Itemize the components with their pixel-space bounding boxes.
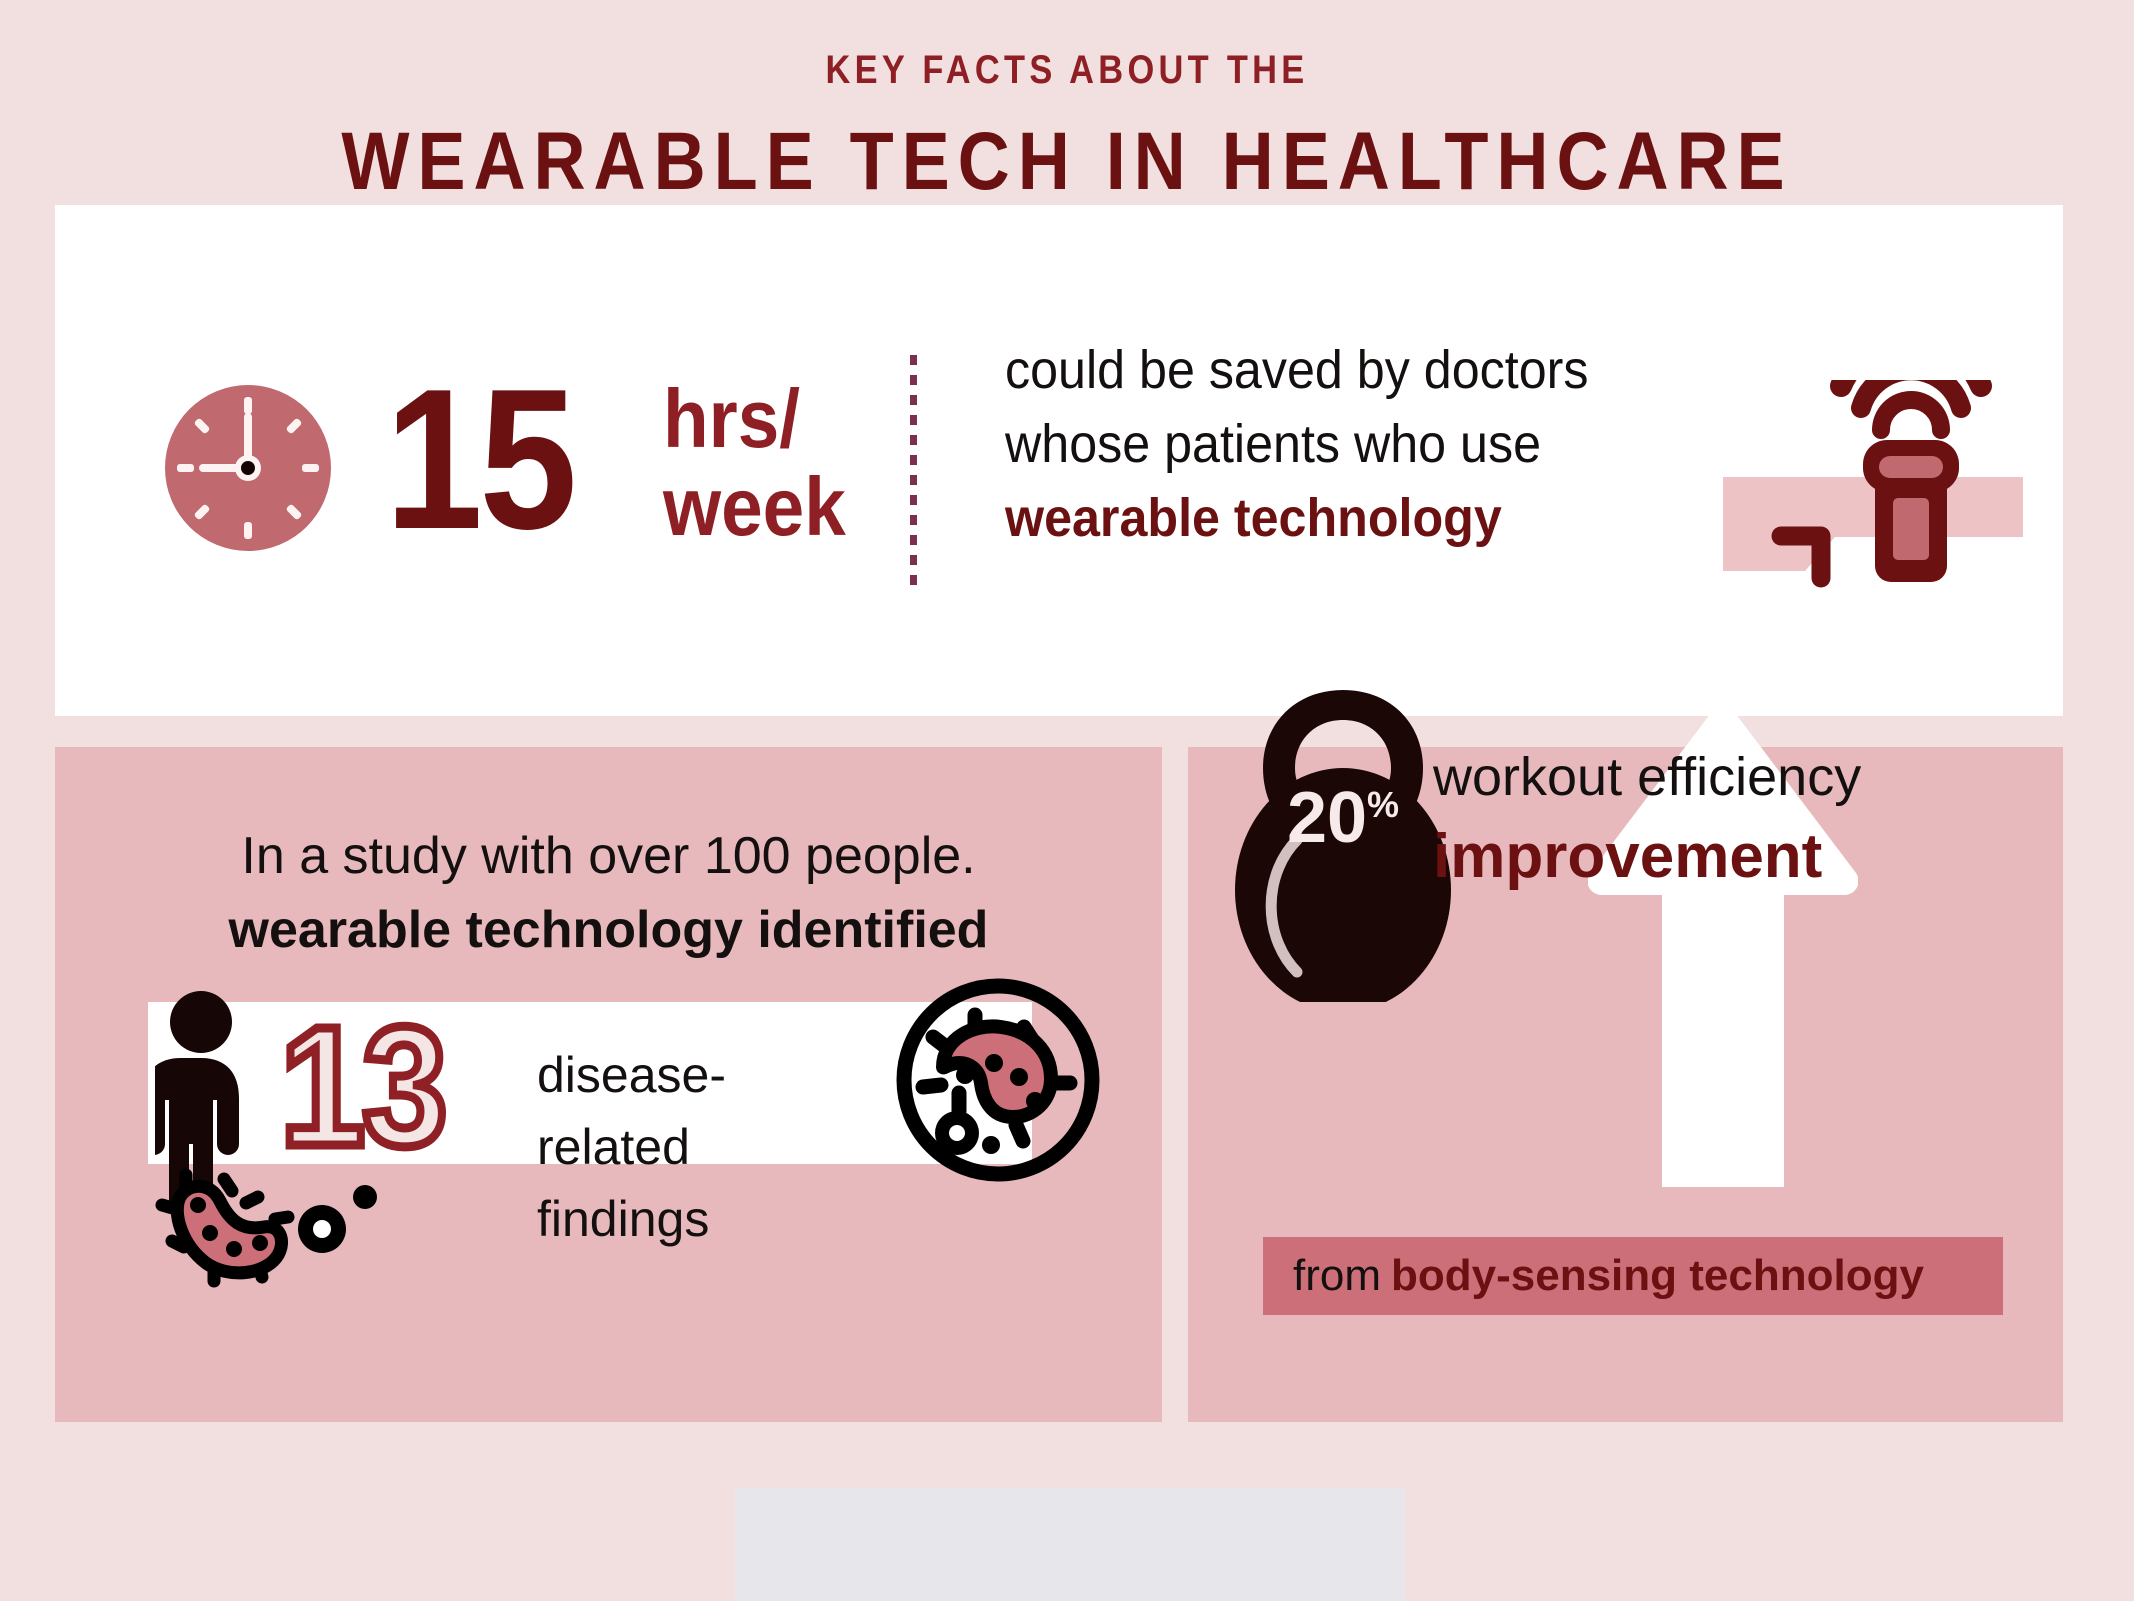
panel-hours-copy: could be saved by doctors whose patients… [1005,333,1675,555]
header: KEY FACTS ABOUT THE WEARABLE TECH IN HEA… [0,0,2134,209]
empty-placeholder-box [735,1488,1405,1601]
stat-number-hours: 15 [385,365,574,555]
ribbon-strong: body-sensing technology [1391,1251,1924,1301]
findings-label: disease-related findings [537,1039,867,1255]
stat-unit-line1: hrs/ [663,375,846,463]
workout-copy: workout efficiency improvement [1433,737,2033,897]
workout-copy-line2: improvement [1433,817,2033,897]
wrist-wearable-signal-icon [1715,380,2095,610]
findings-label-line1: disease-related [537,1039,867,1183]
ribbon-prefix: from [1293,1251,1381,1301]
findings-intro-copy: In a study with over 100 people. wearabl… [55,819,1162,967]
source-ribbon: from body-sensing technology [1263,1237,2003,1315]
germ-in-circle-icon [893,975,1103,1185]
percent-badge: 20% [1273,777,1413,859]
germ-icon [150,1167,380,1297]
clock-icon [165,385,331,551]
stat-unit: hrs/ week [663,375,846,551]
findings-copy-line2: wearable technology identified [55,893,1162,967]
header-kicker: KEY FACTS ABOUT THE [149,48,1984,93]
stat-unit-line2: week [663,463,846,551]
copy-line-1: could be saved by doctors [1005,333,1675,407]
percent-symbol: % [1367,784,1399,825]
panel-workout-improvement: 20% workout efficiency improvement from … [1188,747,2063,1422]
dotted-divider [910,355,917,585]
workout-copy-line1: workout efficiency [1433,737,2033,817]
page-title: WEARABLE TECH IN HEALTHCARE [128,115,2006,209]
findings-label-line2: findings [537,1183,867,1255]
copy-line-3: wearable technology [1005,481,1675,555]
findings-copy-line1: In a study with over 100 people. [55,819,1162,893]
findings-count: 13 [280,1002,445,1172]
panel-disease-findings: In a study with over 100 people. wearabl… [55,747,1162,1422]
copy-line-2: whose patients who use [1005,407,1675,481]
percent-value: 20 [1287,778,1367,858]
arrow-up-icon [1588,627,1858,1187]
